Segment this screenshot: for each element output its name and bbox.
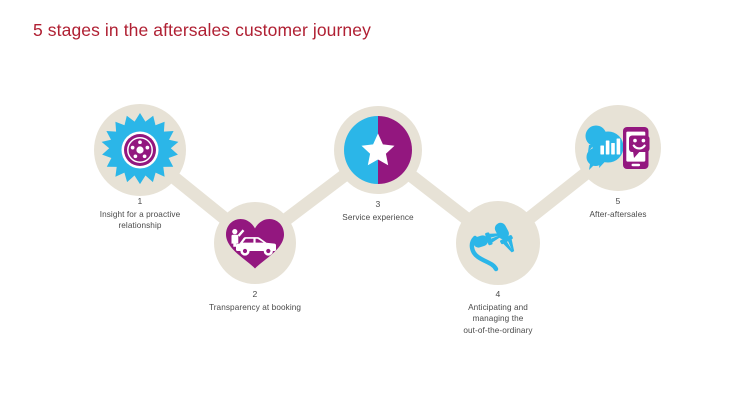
stage-title-2: Transparency at booking [175,302,335,314]
stage-number-4: 4 [418,289,578,301]
stage-title-4: Anticipating and managing the out-of-the… [418,302,578,337]
stage-title-5: After-aftersales [538,209,698,221]
stage-node-3[interactable] [334,106,422,194]
stage-number-3: 3 [298,199,458,211]
stage-label-1: 1 Insight for a proactive relationship [60,196,220,232]
split-circle-star-icon [344,116,412,184]
smartphone-icon [623,127,650,169]
stage-node-5[interactable] [575,105,661,191]
stage-number-2: 2 [175,289,335,301]
stage-number-5: 5 [538,196,698,208]
stage-circle-4 [456,201,540,285]
stage-label-3: 3 Service experience [298,199,458,223]
stage-label-5: 5 After-aftersales [538,196,698,220]
stage-title-1: Insight for a proactive relationship [60,209,220,232]
stage-node-1[interactable] [94,104,186,196]
stage-label-4: 4 Anticipating and managing the out-of-t… [418,289,578,336]
stage-title-3: Service experience [298,212,458,224]
stage-number-1: 1 [60,196,220,208]
stage-node-4[interactable] [456,201,540,285]
stage-label-2: 2 Transparency at booking [175,289,335,313]
stage-node-2[interactable] [214,202,296,284]
